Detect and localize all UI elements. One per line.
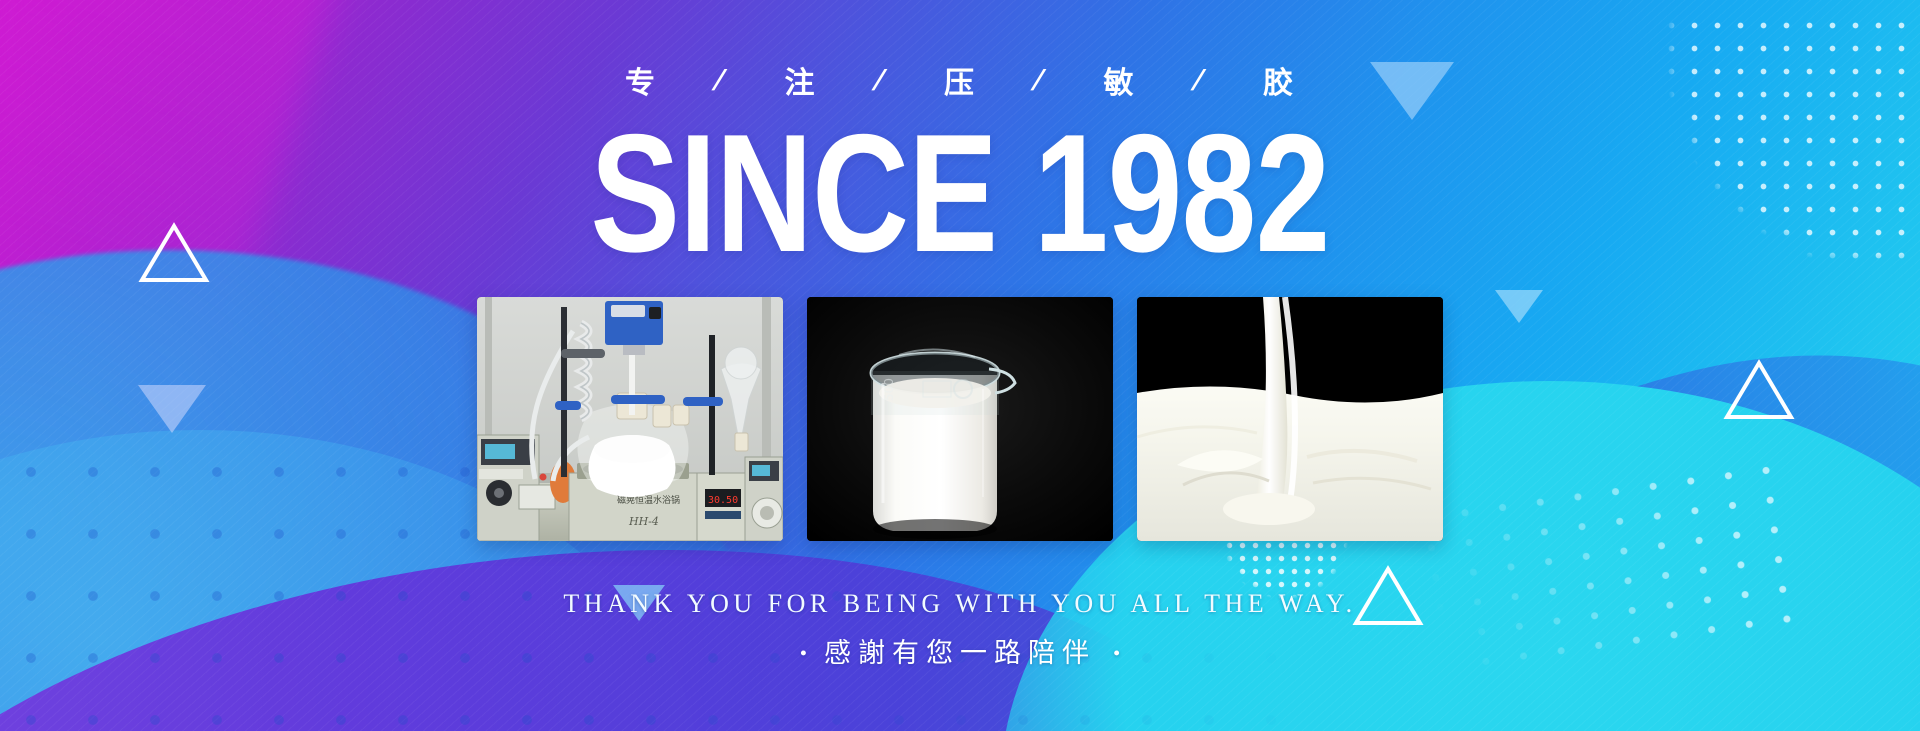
promo-banner: 专 / 注 / 压 / 敏 / 胶 SINCE 1982 xyxy=(0,0,1920,731)
svg-text:30.50: 30.50 xyxy=(708,495,738,506)
tagline-char-4: 敏 xyxy=(1104,58,1136,102)
tagline-separator-2: / xyxy=(873,65,888,95)
lab-reactor-photo[interactable]: 磁晃恒温水浴锅 HH-4 30.50 xyxy=(477,297,783,541)
tagline-char-2: 注 xyxy=(785,58,817,102)
bullet-left-icon: • xyxy=(798,645,808,665)
tagline-char-1: 专 xyxy=(625,58,657,102)
svg-text:500: 500 xyxy=(882,378,896,401)
thanks-block: THANK YOU FOR BEING WITH YOU ALL THE WAY… xyxy=(563,589,1356,670)
tagline-separator-4: / xyxy=(1192,65,1207,95)
beaker-emulsion-photo[interactable]: 500 xyxy=(807,297,1113,541)
bullet-right-icon: • xyxy=(1112,645,1122,665)
chinese-tagline: 专 / 注 / 压 / 敏 / 胶 xyxy=(625,58,1295,102)
svg-text:HH-4: HH-4 xyxy=(628,515,659,528)
tagline-char-5: 胶 xyxy=(1263,58,1295,102)
tagline-separator-3: / xyxy=(1032,65,1047,95)
headline-since-1982: SINCE 1982 xyxy=(590,108,1329,279)
photo-gallery: 磁晃恒温水浴锅 HH-4 30.50 xyxy=(477,297,1443,541)
thanks-chinese: • 感謝有您一路陪伴 • xyxy=(563,631,1356,670)
tagline-char-3: 压 xyxy=(944,58,976,102)
thanks-english: THANK YOU FOR BEING WITH YOU ALL THE WAY… xyxy=(563,589,1356,619)
thanks-chinese-text: 感謝有您一路陪伴 xyxy=(824,638,1096,669)
tagline-separator-1: / xyxy=(713,65,728,95)
pouring-emulsion-photo[interactable] xyxy=(1137,297,1443,541)
banner-content: 专 / 注 / 压 / 敏 / 胶 SINCE 1982 xyxy=(0,0,1920,731)
